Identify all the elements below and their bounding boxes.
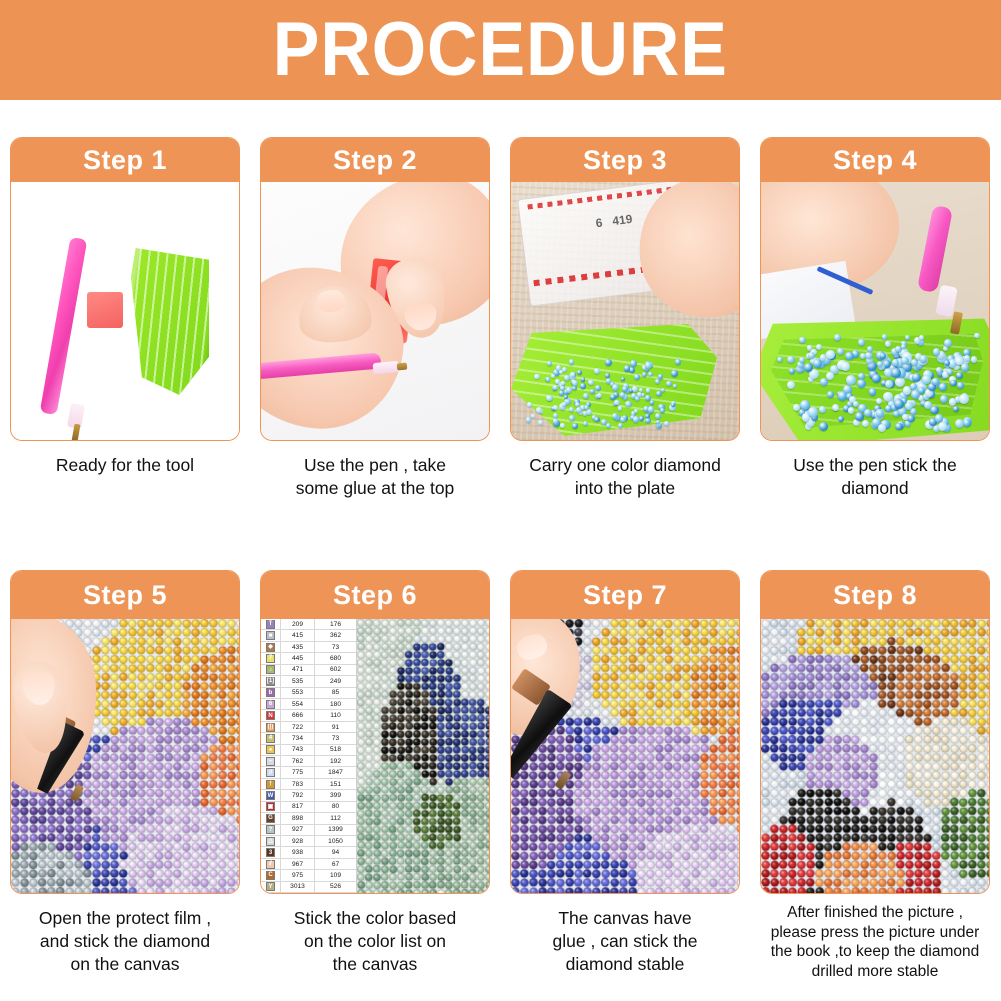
diamond-bead-icon [569,359,574,364]
color-list-row: ■415362 [261,630,356,641]
diamond-bead-icon [841,362,849,370]
diamond-bead-icon [826,372,834,380]
diamond-bead-icon [808,407,818,417]
diamond-bead-icon [564,395,568,399]
dmc-code-cell: 783 [281,779,315,789]
color-swatch-icon: ⫽ [266,860,275,869]
color-swatch-icon: b [266,688,275,697]
diamond-bead-icon [570,372,575,377]
diamond-bead-icon [865,352,872,359]
step-4-header: Step 4 [761,138,989,182]
color-swatch-icon: Y [266,882,275,891]
color-list-row: †783151 [261,779,356,790]
color-symbol-cell: W [261,790,281,800]
color-swatch-icon: N [266,711,275,720]
diamond-bead-icon [660,408,665,413]
dmc-code-cell: 553 [281,688,315,698]
count-cell: 362 [315,630,356,640]
mosaic-canvas [761,619,989,893]
count-cell: 176 [315,619,356,629]
color-list-row: //7751847 [261,767,356,778]
diamond-bead-icon [583,393,589,399]
color-list-row: C975109 [261,870,356,881]
color-list-row: ⫽96767 [261,859,356,870]
step-3-image: 6 419 [511,182,739,440]
color-symbol-cell: Y [261,882,281,892]
color-symbol-cell: 4 [261,733,281,743]
bag-label-number: 6 [595,215,603,230]
diamond-bead-icon [807,345,812,350]
diamond-bead-icon [645,362,652,369]
color-symbol-cell: C [261,870,281,880]
diamond-bead-icon [645,418,650,423]
diamond-bead-icon [922,375,930,383]
step-card-3[interactable]: Step 3 6 419 Carry one col [500,137,750,500]
count-cell: 1847 [315,767,356,777]
step-3-caption-line-2: into the plate [507,477,743,500]
step-card-4[interactable]: Step 4 Use the pen stick the diamond [750,137,1000,500]
diamond-bead-icon [527,402,532,407]
diamond-bead-icon [855,412,863,420]
step-8-caption-line-2: please press the picture under [753,923,997,943]
color-symbol-cell: † [261,779,281,789]
step-card-2[interactable]: Step 2 Use the pen , take some [250,137,500,500]
step-8-card: Step 8 [760,570,990,894]
diamond-bead-icon [895,377,905,387]
diamond-bead-icon [634,374,640,380]
step-7-image [511,619,739,893]
color-symbol-cell: 7 [261,653,281,663]
color-swatch-icon: 7 [266,654,275,663]
step-2-caption: Use the pen , take some glue at the top [257,454,493,500]
diamond-bead-icon [920,355,927,362]
dmc-code-cell: 927 [281,825,315,835]
dmc-code-cell: 445 [281,653,315,663]
diamond-bead-icon [804,363,813,372]
color-symbol-cell: b [261,688,281,698]
color-list-row: –762192 [261,756,356,767]
color-swatch-icon: ● [266,745,275,754]
color-swatch-icon: ▣ [266,802,275,811]
step-5-caption-line-1: Open the protect film , [7,907,243,930]
diamond-bead-icon [924,401,932,409]
count-cell: 518 [315,745,356,755]
step-3-card: Step 3 6 419 [510,137,740,441]
step-card-5[interactable]: Step 5 Open the protect film , and stick… [0,570,250,982]
step-5-caption-line-3: on the canvas [7,953,243,976]
bag-label-code: 419 [611,212,633,228]
diamond-bead-icon [612,413,618,419]
step-8-image [761,619,989,893]
dmc-code-cell: 209 [281,619,315,629]
diamond-bead-icon [580,383,585,388]
diamond-bead-icon [629,367,635,373]
color-list-row: ▣81780 [261,802,356,813]
diamond-bead-icon [664,421,669,426]
diamond-bead-icon [564,375,570,381]
count-cell: 602 [315,665,356,675]
diamond-bead-icon [630,360,636,366]
step-2-card: Step 2 [260,137,490,441]
color-list-row: △9281050 [261,836,356,847]
count-cell: 85 [315,688,356,698]
dmc-code-cell: 666 [281,710,315,720]
count-cell: 526 [315,882,356,892]
diamond-bead-icon [819,406,826,413]
color-list-row: 473473 [261,733,356,744]
count-cell: 94 [315,847,356,857]
diamond-bead-icon [572,423,578,429]
pink-pen-icon [917,205,953,293]
dmc-code-cell: 975 [281,870,315,880]
page-header-banner: PROCEDURE [0,0,1001,100]
color-list-row: 7445680 [261,653,356,664]
color-symbol-cell: 3 [261,847,281,857]
diamond-bead-icon [553,418,558,423]
color-list-row: 393894 [261,847,356,858]
step-1-caption: Ready for the tool [7,454,243,477]
step-5-header: Step 5 [11,571,239,619]
diamond-bead-icon [569,407,574,412]
diamond-bead-icon [846,375,856,385]
step-6-card: Step 6 T209176■415362◆435737445680♪47160… [260,570,490,894]
step-5-caption: Open the protect film , and stick the di… [7,907,243,976]
step-7-caption-line-3: diamond stable [507,953,743,976]
color-symbol-cell: 6 [261,699,281,709]
step-4-caption-line-2: diamond [757,477,993,500]
color-list-row: b55385 [261,688,356,699]
diamond-bead-icon [642,372,647,377]
count-cell: 73 [315,642,356,652]
diamond-bead-icon [955,419,964,428]
dmc-code-cell: 775 [281,767,315,777]
diamond-bead-icon [632,386,638,392]
step-6-caption-line-1: Stick the color based [257,907,493,930]
step-card-8[interactable]: Step 8 After finished the picture , plea… [750,570,1000,982]
diamond-bead-icon [777,357,782,362]
color-list-row: T209176 [261,619,356,630]
diamond-bead-icon [789,368,795,374]
diamond-bead-icon [902,414,909,421]
color-list-table: T209176■415362◆435737445680♪471602[1]535… [261,619,357,893]
color-list-row: 6554180 [261,699,356,710]
diamond-bead-icon [961,363,969,371]
count-cell: 73 [315,733,356,743]
step-2-caption-line-1: Use the pen , take [257,454,493,477]
diamond-bead-icon [562,402,566,406]
step-4-card: Step 4 [760,137,990,441]
count-cell: 180 [315,699,356,709]
color-list-row: N666110 [261,710,356,721]
diamond-bead-icon [576,407,582,413]
diamond-bead-icon [572,380,578,386]
step-7-header: Step 7 [511,571,739,619]
color-swatch-icon: 6 [266,700,275,709]
count-cell: 1050 [315,836,356,846]
diamond-bead-icon [560,423,565,428]
diamond-bead-icon [957,382,964,389]
diamond-bead-icon [971,356,978,363]
diamond-bead-icon [555,379,560,384]
step-4-image [761,182,989,440]
color-symbol-cell: G [261,813,281,823]
count-cell: 112 [315,813,356,823]
dmc-code-cell: 415 [281,630,315,640]
color-swatch-icon: G [266,814,275,823]
step-8-caption: After finished the picture , please pres… [753,903,997,982]
diamond-bead-icon [816,344,822,350]
diamond-bead-icon [534,374,540,380]
dmc-code-cell: 722 [281,722,315,732]
color-list-row: [1]535249 [261,676,356,687]
step-7-caption-line-1: The canvas have [507,907,743,930]
diamond-bead-icon [905,335,910,340]
dmc-code-cell: 435 [281,642,315,652]
count-cell: 110 [315,710,356,720]
dmc-code-cell: 938 [281,847,315,857]
color-swatch-icon: ? [266,825,275,834]
procedure-infographic: PROCEDURE Step 1 Ready for the tool [0,0,1001,1001]
diamond-bead-icon [787,356,795,364]
step-3-header: Step 3 [511,138,739,182]
count-cell: 109 [315,870,356,880]
dmc-code-cell: 471 [281,665,315,675]
dmc-code-cell: 967 [281,859,315,869]
count-cell: 192 [315,756,356,766]
step-6-image: T209176■415362◆435737445680♪471602[1]535… [261,619,489,893]
count-cell: 80 [315,802,356,812]
diamond-bead-icon [901,357,908,364]
dmc-code-cell: 743 [281,745,315,755]
diamond-bead-icon [845,352,854,361]
diamond-bead-icon [536,407,542,413]
dmc-code-cell: 817 [281,802,315,812]
diamond-bead-icon [974,333,980,339]
step-2-header: Step 2 [261,138,489,182]
count-cell: 1399 [315,825,356,835]
diamond-bead-icon [949,398,957,406]
step-7-caption-line-2: glue , can stick the [507,930,743,953]
diamond-bead-icon [566,387,571,392]
diamond-bead-icon [799,357,805,363]
step-6-caption-line-2: on the color list on [257,930,493,953]
step-1-card: Step 1 [10,137,240,441]
count-cell: 67 [315,859,356,869]
diamond-bead-icon [671,370,678,377]
color-symbol-cell: T [261,619,281,629]
color-swatch-icon: 4 [266,734,275,743]
mosaic-canvas [357,619,489,893]
color-symbol-cell: ♪ [261,665,281,675]
step-4-caption-line-1: Use the pen stick the [757,454,993,477]
step-8-header: Step 8 [761,571,989,619]
diamond-bead-icon [614,400,620,406]
step-card-1[interactable]: Step 1 Ready for the tool [0,137,250,500]
diamond-bead-icon [624,365,630,371]
step-3-caption: Carry one color diamond into the plate [507,454,743,500]
diamond-bead-icon [930,406,938,414]
diamond-bead-icon [869,388,876,395]
step-1-image [11,182,239,440]
step-2-caption-line-2: some glue at the top [257,477,493,500]
color-swatch-icon: ♪ [266,665,275,674]
step-6-caption-line-3: the canvas [257,953,493,976]
step-8-caption-line-1: After finished the picture , [753,903,997,923]
step-7-caption: The canvas have glue , can stick the dia… [507,907,743,976]
color-swatch-icon: // [266,768,275,777]
dmc-code-cell: 762 [281,756,315,766]
steps-row-bottom: Step 5 Open the protect film , and stick… [0,570,1001,982]
color-list-row: ?9271399 [261,825,356,836]
diamond-bead-icon [939,383,946,390]
color-symbol-cell: ? [261,825,281,835]
color-swatch-icon: T [266,620,275,629]
diamond-bead-icon [560,386,565,391]
diamond-bead-icon [895,423,902,430]
tray-edge-icon [131,248,209,395]
diamond-bead-icon [876,409,885,418]
diamond-bead-icon [612,384,619,391]
diamond-bead-icon [956,372,963,379]
color-swatch-icon: ◆ [266,643,275,652]
dmc-code-cell: 554 [281,699,315,709]
dmc-code-cell: 3013 [281,882,315,892]
color-symbol-cell: △ [261,836,281,846]
step-4-caption: Use the pen stick the diamond [757,454,993,500]
pen-tip-icon [373,361,400,374]
color-list-row: ◆43573 [261,642,356,653]
color-symbol-cell: ● [261,745,281,755]
diamond-bead-icon [892,359,899,366]
diamond-bead-icon [793,404,800,411]
steps-row-top: Step 1 Ready for the tool Step 2 [0,137,1001,500]
diamond-bead-icon [891,368,901,378]
diamond-bead-icon [656,420,660,424]
color-list-row: Y3013526 [261,882,356,893]
diamond-bead-icon [601,419,607,425]
step-8-caption-line-3: the book ,to keep the diamond [753,942,997,962]
diamond-bead-icon [595,385,601,391]
color-swatch-icon: C [266,871,275,880]
diamond-bead-icon [538,420,543,425]
diamond-bead-icon [848,407,855,414]
diamond-bead-icon [858,339,865,346]
step-8-caption-line-4: drilled more stable [753,962,997,982]
color-swatch-icon: – [266,757,275,766]
diamond-bead-icon [953,406,959,412]
step-card-7[interactable]: Step 7 The canvas have glue , can stick … [500,570,750,982]
diamond-bead-icon [882,334,887,339]
step-6-header: Step 6 [261,571,489,619]
color-symbol-cell: // [261,767,281,777]
dmc-code-cell: 898 [281,813,315,823]
dmc-code-cell: 535 [281,676,315,686]
color-symbol-cell: ⫽ [261,859,281,869]
diamond-bead-icon [639,416,644,421]
diamond-bead-icon [932,378,939,385]
diamond-bead-icon [944,339,952,347]
color-symbol-cell: (|) [261,722,281,732]
glue-square-icon [87,292,123,328]
diamond-bead-icon [940,395,948,403]
count-cell: 151 [315,779,356,789]
step-5-image [11,619,239,893]
diamond-bead-icon [905,402,913,410]
diamond-bead-icon [569,415,575,421]
color-symbol-cell: ■ [261,630,281,640]
diamond-bead-icon [912,373,921,382]
color-list-row: (|)72291 [261,722,356,733]
diamond-bead-icon [645,414,649,418]
color-swatch-icon: W [266,791,275,800]
color-swatch-icon: [1] [266,677,275,686]
dmc-code-cell: 928 [281,836,315,846]
diamond-bead-icon [656,391,662,397]
step-7-card: Step 7 [510,570,740,894]
color-symbol-cell: ▣ [261,802,281,812]
count-cell: 680 [315,653,356,663]
dmc-code-cell: 792 [281,790,315,800]
color-swatch-icon: 3 [266,848,275,857]
count-cell: 91 [315,722,356,732]
diamond-bead-icon [645,395,651,401]
diamond-bead-icon [622,386,628,392]
pink-pen-icon [40,237,88,415]
color-list-row: G898112 [261,813,356,824]
diamond-bead-icon [877,361,883,367]
diamond-bead-icon [588,380,593,385]
pen-metal-tip-icon [397,363,408,371]
diamond-bead-icon [650,400,654,404]
step-card-6[interactable]: Step 6 T209176■415362◆435737445680♪47160… [250,570,500,982]
diamond-bead-icon [546,377,551,382]
color-list-row: W792399 [261,790,356,801]
color-swatch-icon: (|) [266,723,275,732]
diamond-bead-icon [553,413,558,418]
diamond-bead-icon [837,348,844,355]
diamond-bead-icon [950,380,956,386]
diamond-bead-icon [799,337,806,344]
dmc-code-cell: 734 [281,733,315,743]
step-5-caption-line-2: and stick the diamond [7,930,243,953]
step-3-caption-line-1: Carry one color diamond [507,454,743,477]
step-2-image [261,182,489,440]
diamond-bead-icon [551,374,555,378]
color-list-row: ●743518 [261,745,356,756]
diamond-bead-icon [618,406,622,410]
diamond-bead-icon [885,341,891,347]
diamond-bead-icon [834,334,841,341]
diamond-bead-icon [911,390,920,399]
color-swatch-icon: △ [266,837,275,846]
color-swatch-icon: † [266,780,275,789]
diamond-bead-icon [526,417,531,422]
count-cell: 399 [315,790,356,800]
color-list-row: ♪471602 [261,665,356,676]
diamond-bead-icon [658,374,663,379]
count-cell: 249 [315,676,356,686]
diamond-bead-icon [959,394,969,404]
color-swatch-icon: ■ [266,631,275,640]
color-symbol-cell: – [261,756,281,766]
step-6-caption: Stick the color based on the color list … [257,907,493,976]
color-symbol-cell: [1] [261,676,281,686]
diamond-bead-icon [546,395,552,401]
step-5-card: Step 5 [10,570,240,894]
diamond-bead-icon [648,406,655,413]
step-1-header: Step 1 [11,138,239,182]
color-symbol-cell: ◆ [261,642,281,652]
